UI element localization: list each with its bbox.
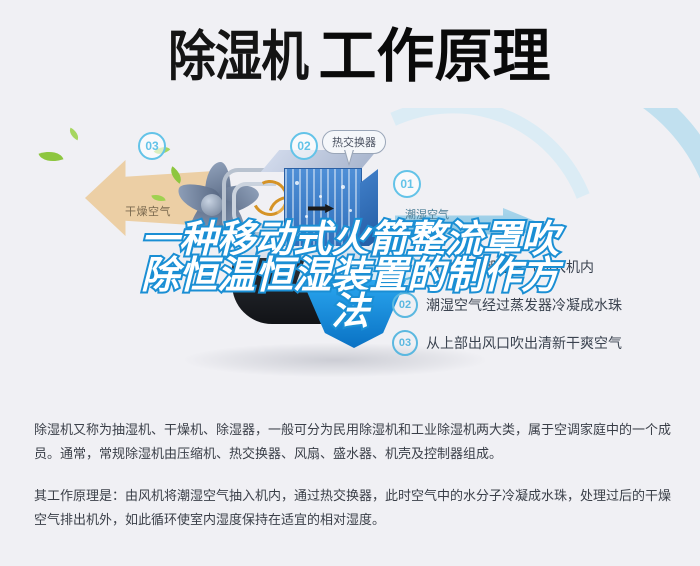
- body-copy: 除湿机又称为抽湿机、干燥机、除湿器，一般可分为民用除湿机和工业除湿机两大类，属于…: [34, 418, 674, 532]
- legend-list: 01 由风机将潮湿空气抽入机内 02 潮湿空气经过蒸发器冷凝成水珠 03 从上部…: [392, 248, 692, 362]
- water-tank-label: 水箱: [340, 302, 362, 317]
- illustration-badge-03: 03: [138, 132, 166, 160]
- leaf-icon: [67, 128, 81, 141]
- humid-air-label: 潮湿空气: [405, 206, 449, 222]
- legend-badge: 03: [392, 330, 418, 356]
- page-title: 除湿机 工作原理: [0, 22, 700, 92]
- body-paragraph-2: 其工作原理是：由风机将潮湿空气抽入机内，通过热交换器，此时空气中的水分子冷凝成水…: [34, 484, 674, 532]
- page-title-part-1: 除湿机: [169, 30, 309, 84]
- legend-label: 由风机将潮湿空气抽入机内: [426, 257, 594, 277]
- legend-badge: 01: [392, 254, 418, 280]
- body-paragraph-1: 除湿机又称为抽湿机、干燥机、除湿器，一般可分为民用除湿机和工业除湿机两大类，属于…: [34, 418, 674, 466]
- legend-label: 从上部出风口吹出清新干爽空气: [426, 333, 622, 353]
- legend-badge: 02: [392, 292, 418, 318]
- poster-page: 除湿机 工作原理 干燥空气: [0, 0, 700, 566]
- legend-item: 01 由风机将潮湿空气抽入机内: [392, 248, 692, 286]
- illustration-badge-01: 01: [393, 170, 421, 198]
- illustration-badge-02: 02: [290, 132, 318, 160]
- callout-tail-icon: [344, 150, 354, 166]
- heat-exchanger-callout: 热交换器: [322, 130, 386, 154]
- legend-label: 潮湿空气经过蒸发器冷凝成水珠: [426, 295, 622, 315]
- page-title-part-2: 工作原理: [318, 28, 550, 86]
- leaf-icon: [39, 147, 64, 166]
- legend-item: 03 从上部出风口吹出清新干爽空气: [392, 324, 692, 362]
- legend-item: 02 潮湿空气经过蒸发器冷凝成水珠: [392, 286, 692, 324]
